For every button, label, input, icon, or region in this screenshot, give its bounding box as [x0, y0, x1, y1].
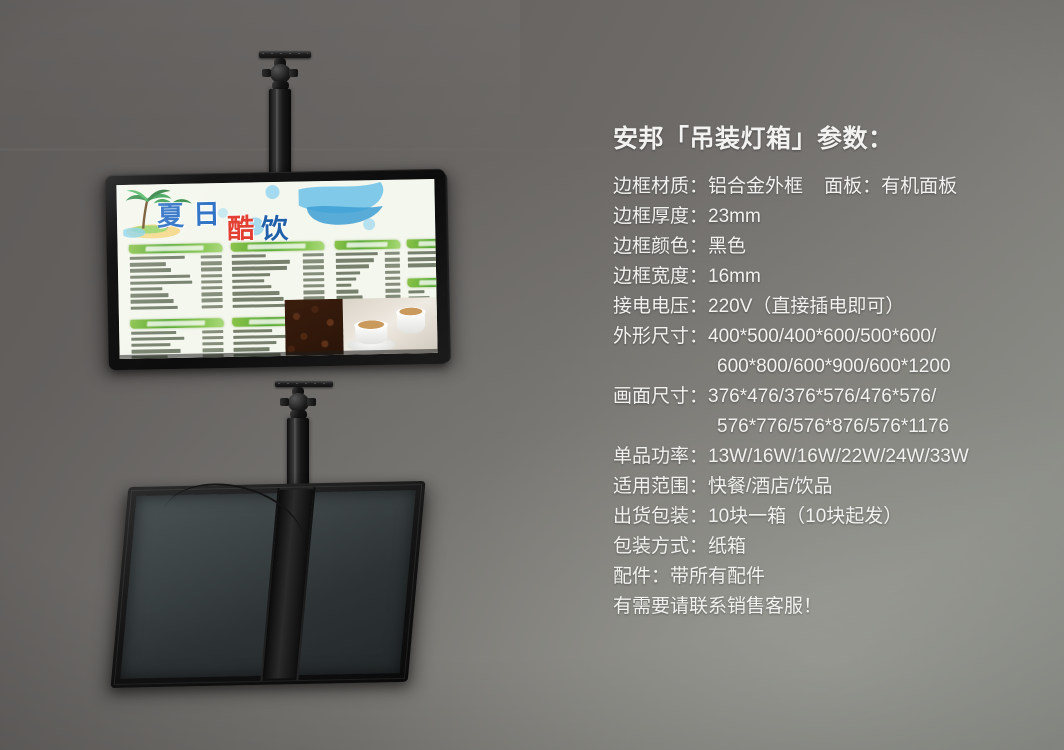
vignette-overlay: [0, 0, 1064, 750]
product-photo: 夏 日 酷 饮: [0, 0, 1064, 750]
